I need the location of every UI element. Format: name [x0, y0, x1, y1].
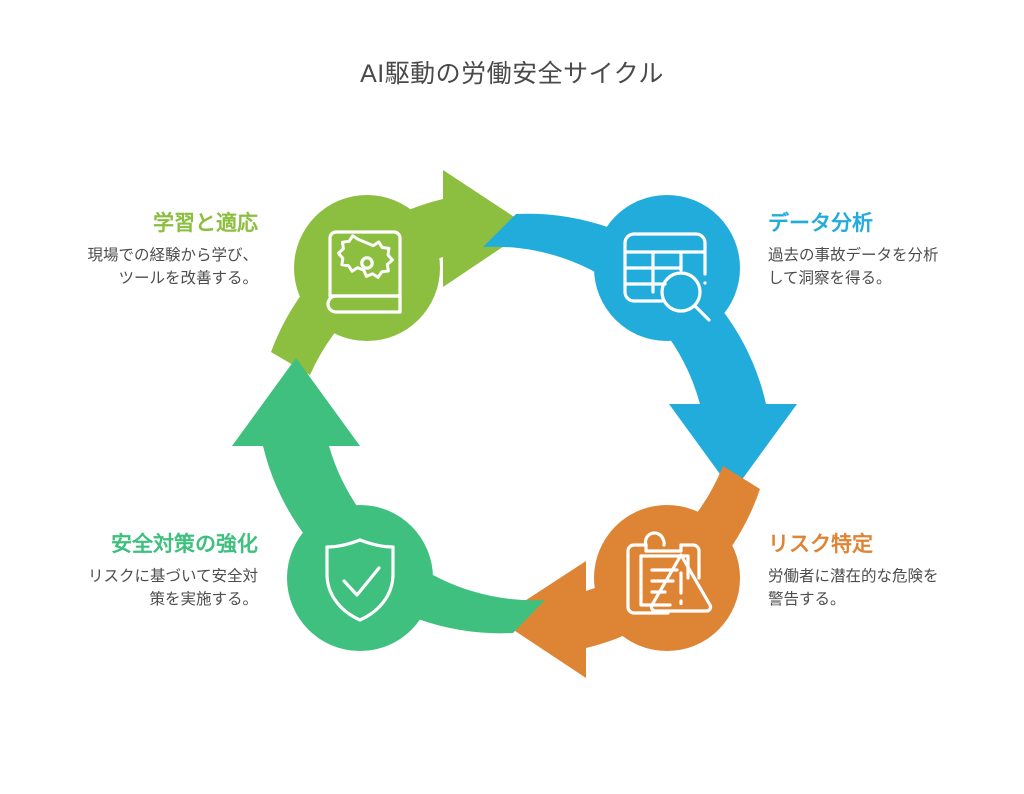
step-label-measures: 安全対策の強化 リスクに基づいて安全対 策を実施する。: [8, 533, 258, 611]
step-node-risk[interactable]: [594, 505, 740, 651]
step-node-analysis[interactable]: [594, 195, 740, 341]
step-description-analysis: 過去の事故データを分析 して洞察を得る。: [768, 245, 1018, 290]
step-circle-measures: [287, 505, 433, 651]
step-node-learning[interactable]: [294, 195, 440, 341]
step-node-measures[interactable]: [287, 505, 433, 651]
step-title-measures: 安全対策の強化: [8, 533, 258, 557]
cycle-diagram: [0, 0, 1024, 794]
step-description-risk: 労働者に潜在的な危険を 警告する。: [768, 566, 1018, 611]
step-label-learning: 学習と適応 現場での経験から学び、 ツールを改善する。: [8, 212, 258, 290]
step-label-risk: リスク特定 労働者に潜在的な危険を 警告する。: [768, 533, 1018, 611]
step-description-measures: リスクに基づいて安全対 策を実施する。: [8, 566, 258, 611]
step-description-learning: 現場での経験から学び、 ツールを改善する。: [8, 245, 258, 290]
step-title-learning: 学習と適応: [8, 212, 258, 236]
step-label-analysis: データ分析 過去の事故データを分析 して洞察を得る。: [768, 212, 1018, 290]
infographic-canvas: AI駆動の労働安全サイクル: [0, 0, 1024, 794]
step-title-analysis: データ分析: [768, 212, 1018, 236]
step-title-risk: リスク特定: [768, 533, 1018, 557]
